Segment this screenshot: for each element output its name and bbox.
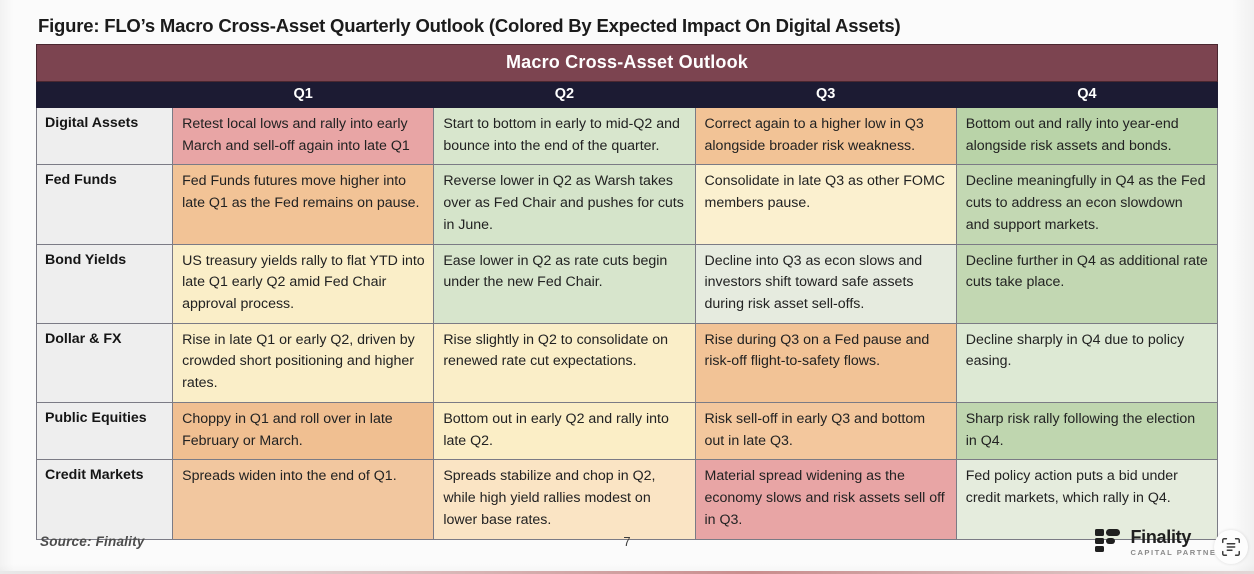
cell-public-equities-q3: Risk sell-off in early Q3 and bottom out… [695,402,956,459]
cell-digital-assets-q4: Bottom out and rally into year-end along… [956,108,1217,165]
cell-bond-yields-q1: US treasury yields rally to flat YTD int… [173,244,434,323]
table-row: Fed Funds Fed Funds futures move higher … [37,165,1218,244]
slide: Figure: FLO’s Macro Cross-Asset Quarterl… [0,0,1254,574]
row-label-dollar-fx: Dollar & FX [37,323,173,402]
cell-digital-assets-q1: Retest local lows and rally into early M… [173,108,434,165]
table-quarter-header-row: Q1 Q2 Q3 Q4 [37,82,1218,108]
cell-public-equities-q2: Bottom out in early Q2 and rally into la… [434,402,695,459]
logo-name: Finality [1130,527,1191,547]
table-row: Bond Yields US treasury yields rally to … [37,244,1218,323]
row-label-digital-assets: Digital Assets [37,108,173,165]
table-body: Digital Assets Retest local lows and ral… [37,108,1218,540]
cell-fed-funds-q4: Decline meaningfully in Q4 as the Fed cu… [956,165,1217,244]
page-number: 7 [0,534,1254,549]
table-banner-row: Macro Cross-Asset Outlook [37,45,1218,82]
row-label-public-equities: Public Equities [37,402,173,459]
cell-dollar-fx-q3: Rise during Q3 on a Fed pause and risk-o… [695,323,956,402]
cell-dollar-fx-q2: Rise slightly in Q2 to consolidate on re… [434,323,695,402]
quarter-header-q2: Q2 [434,82,695,108]
table-banner-title: Macro Cross-Asset Outlook [37,45,1218,82]
cell-digital-assets-q2: Start to bottom in early to mid-Q2 and b… [434,108,695,165]
row-label-bond-yields: Bond Yields [37,244,173,323]
macro-outlook-table: Macro Cross-Asset Outlook Q1 Q2 Q3 Q4 Di… [36,44,1218,540]
quarter-header-q3: Q3 [695,82,956,108]
cell-digital-assets-q3: Correct again to a higher low in Q3 alon… [695,108,956,165]
cell-bond-yields-q3: Decline into Q3 as econ slows and invest… [695,244,956,323]
row-label-fed-funds: Fed Funds [37,165,173,244]
table-row: Public Equities Choppy in Q1 and roll ov… [37,402,1218,459]
cell-fed-funds-q2: Reverse lower in Q2 as Warsh takes over … [434,165,695,244]
quarter-header-q4: Q4 [956,82,1217,108]
finality-logo: Finality CAPITAL PARTNERS [1093,526,1230,559]
cell-dollar-fx-q1: Rise in late Q1 or early Q2, driven by c… [173,323,434,402]
cell-fed-funds-q3: Consolidate in late Q3 as other FOMC mem… [695,165,956,244]
quarter-header-blank [37,82,173,108]
figure-title: Figure: FLO’s Macro Cross-Asset Quarterl… [36,10,1224,44]
cell-bond-yields-q2: Ease lower in Q2 as rate cuts begin unde… [434,244,695,323]
cell-bond-yields-q4: Decline further in Q4 as additional rate… [956,244,1217,323]
table-row: Dollar & FX Rise in late Q1 or early Q2,… [37,323,1218,402]
quarter-header-q1: Q1 [173,82,434,108]
slide-footer: Source: Finality 7 Finality CAPITAL PART… [0,518,1254,574]
cell-public-equities-q1: Choppy in Q1 and roll over in late Febru… [173,402,434,459]
cell-dollar-fx-q4: Decline sharply in Q4 due to policy easi… [956,323,1217,402]
table-row: Digital Assets Retest local lows and ral… [37,108,1218,165]
finality-f-mark-icon [1093,526,1123,559]
document-scan-icon[interactable] [1214,530,1248,564]
cell-public-equities-q4: Sharp risk rally following the election … [956,402,1217,459]
cell-fed-funds-q1: Fed Funds futures move higher into late … [173,165,434,244]
